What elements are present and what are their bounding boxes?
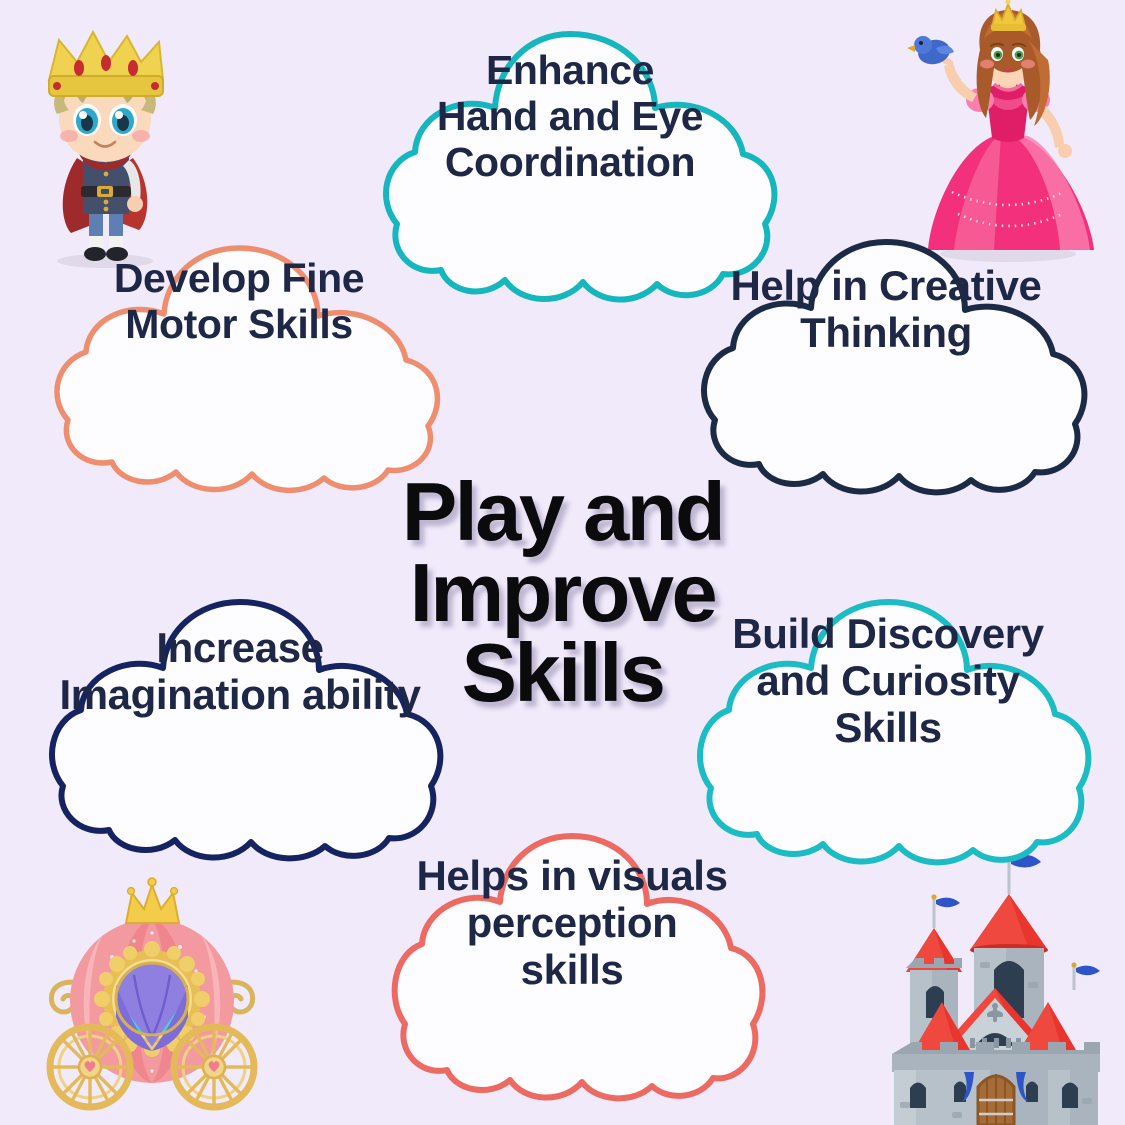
cloud-label-creative-thinking: Help in Creative Thinking — [730, 262, 1041, 356]
prince-character — [5, 18, 205, 270]
page-title: Play and Improve Skills — [330, 472, 795, 714]
fairytale-castle — [866, 842, 1125, 1125]
cloud-label-visual-perception: Helps in visuals perception skills — [416, 852, 727, 993]
princess-character — [888, 14, 1114, 262]
cloud-creative-thinking[interactable]: Help in Creative Thinking — [672, 232, 1100, 490]
cloud-develop-fine-motor[interactable]: Develop Fine Motor Skills — [24, 238, 454, 488]
cloud-label-enhance-hand-eye: Enhance Hand and Eye Coordination — [437, 48, 703, 186]
cloud-label-develop-fine-motor: Develop Fine Motor Skills — [114, 256, 364, 348]
pumpkin-carriage — [34, 875, 270, 1117]
cloud-visual-perception[interactable]: Helps in visuals perception skills — [372, 826, 772, 1104]
poster-canvas: Enhance Hand and Eye Coordination — [0, 0, 1125, 1125]
